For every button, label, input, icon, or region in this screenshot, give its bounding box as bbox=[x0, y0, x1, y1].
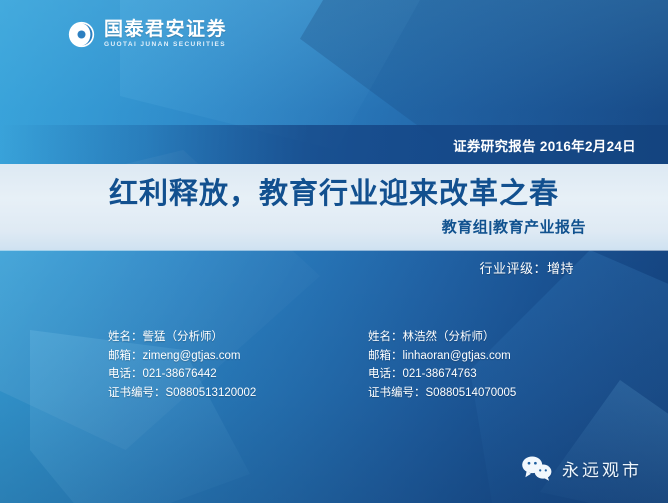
title-band: 红利释放，教育行业迎来改革之春 教育组|教育产业报告 bbox=[0, 164, 668, 250]
page-title: 红利释放，教育行业迎来改革之春 bbox=[0, 170, 668, 212]
brand-logo: 国泰君安证券 GUOTAI JUNAN SECURITIES bbox=[68, 20, 227, 49]
wechat-account-name: 永远观市 bbox=[562, 456, 642, 481]
analyst-email[interactable]: 邮箱：zimeng@gtjas.com bbox=[108, 347, 256, 366]
analyst-block-1: 姓名：訾猛（分析师） 邮箱：zimeng@gtjas.com 电话：021-38… bbox=[108, 328, 256, 402]
wechat-watermark: 永远观市 bbox=[521, 455, 642, 481]
analyst-phone: 电话：021-38676442 bbox=[108, 365, 256, 384]
analyst-contacts: 姓名：訾猛（分析师） 邮箱：zimeng@gtjas.com 电话：021-38… bbox=[0, 328, 668, 418]
background-overlay bbox=[0, 0, 668, 503]
report-cover-slide: 国泰君安证券 GUOTAI JUNAN SECURITIES 证券研究报告 20… bbox=[0, 0, 668, 503]
brand-name-en: GUOTAI JUNAN SECURITIES bbox=[104, 42, 227, 49]
industry-rating: 行业评级：增持 bbox=[479, 258, 574, 277]
report-type-and-date: 证券研究报告 2016年2月24日 bbox=[453, 135, 668, 155]
analyst-phone: 电话：021-38674763 bbox=[368, 365, 516, 384]
wechat-icon bbox=[521, 455, 553, 481]
analyst-license: 证书编号：S0880513120002 bbox=[108, 384, 256, 403]
analyst-email[interactable]: 邮箱：linhaoran@gtjas.com bbox=[368, 347, 516, 366]
brand-name-cn: 国泰君安证券 bbox=[104, 20, 227, 39]
brand-logo-text: 国泰君安证券 GUOTAI JUNAN SECURITIES bbox=[104, 20, 227, 49]
page-subtitle: 教育组|教育产业报告 bbox=[442, 216, 586, 237]
analyst-name: 姓名：訾猛（分析师） bbox=[108, 328, 256, 347]
analyst-name: 姓名：林浩然（分析师） bbox=[368, 328, 516, 347]
guotai-junan-circle-logo-icon bbox=[68, 21, 95, 48]
analyst-block-2: 姓名：林浩然（分析师） 邮箱：linhaoran@gtjas.com 电话：02… bbox=[368, 328, 516, 402]
analyst-license: 证书编号：S0880514070005 bbox=[368, 384, 516, 403]
report-date-bar: 证券研究报告 2016年2月24日 bbox=[0, 125, 668, 164]
